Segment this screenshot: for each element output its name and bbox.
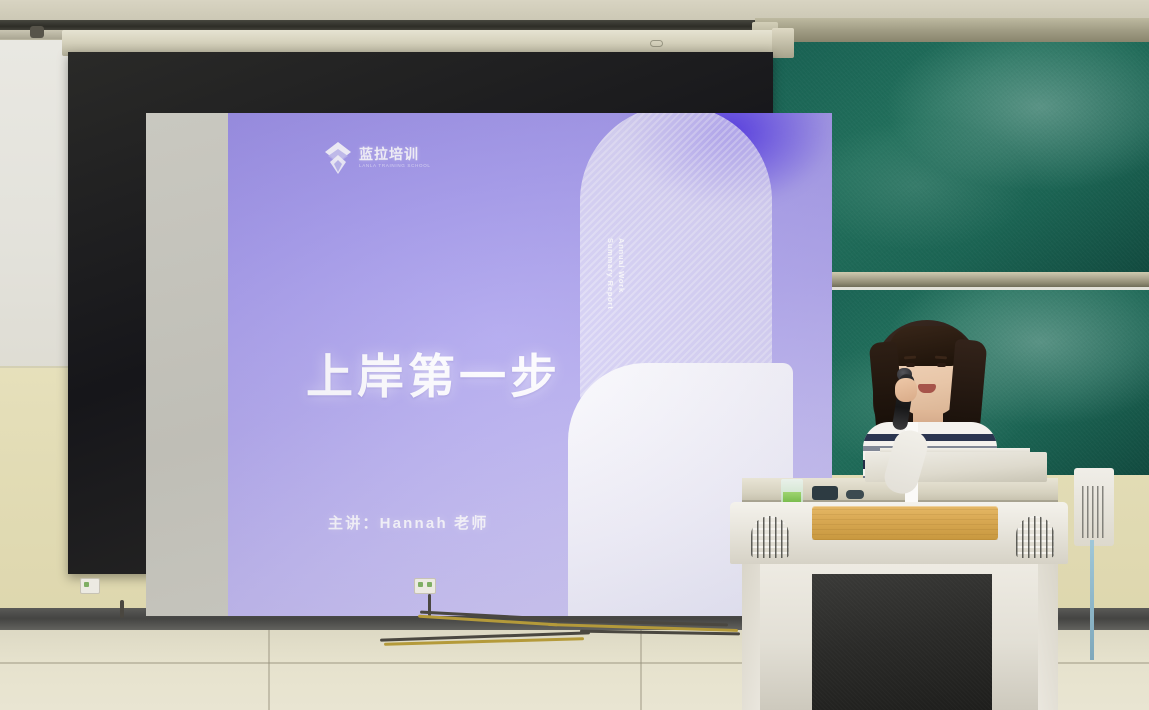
- support-pole: [1090, 540, 1094, 660]
- wall-speaker-grille-icon: [1082, 486, 1106, 538]
- outlet-indicator: [418, 582, 423, 587]
- floor-seam: [268, 630, 270, 710]
- blackboard-top-frame: [755, 18, 1149, 44]
- outlet-indicator: [427, 582, 432, 587]
- projector-screen-end-cap: [772, 28, 794, 58]
- desk-object: [812, 486, 838, 500]
- lectern-wood-trim: [812, 506, 998, 540]
- desk-object: [846, 490, 864, 499]
- housing-emblem-icon: [650, 40, 663, 47]
- panel-texture: [812, 574, 992, 710]
- wood-grain: [812, 506, 998, 540]
- top-stripe: [863, 434, 997, 441]
- presenter-mouth: [918, 384, 936, 393]
- presenter-hand: [895, 378, 917, 402]
- cable: [120, 600, 124, 618]
- classroom-scene: 蓝拉培训 LANLA TRAINING SCHOOL Annual Work S…: [0, 0, 1149, 710]
- lectern-front-panel: [812, 574, 992, 710]
- projector-screen-frame: 蓝拉培训 LANLA TRAINING SCHOOL Annual Work S…: [68, 52, 773, 574]
- presenter-eye-left: [906, 363, 915, 367]
- outlet-indicator: [84, 582, 89, 587]
- grille-holes: [751, 516, 789, 558]
- speaker-grille-icon: [1016, 516, 1054, 558]
- presenter-eye-right: [937, 363, 946, 367]
- ceiling-hook: [30, 26, 44, 38]
- floor-seam: [640, 630, 642, 710]
- grille-holes: [1016, 516, 1054, 558]
- speaker-grille-icon: [751, 516, 789, 558]
- wall-outlet[interactable]: [80, 578, 100, 594]
